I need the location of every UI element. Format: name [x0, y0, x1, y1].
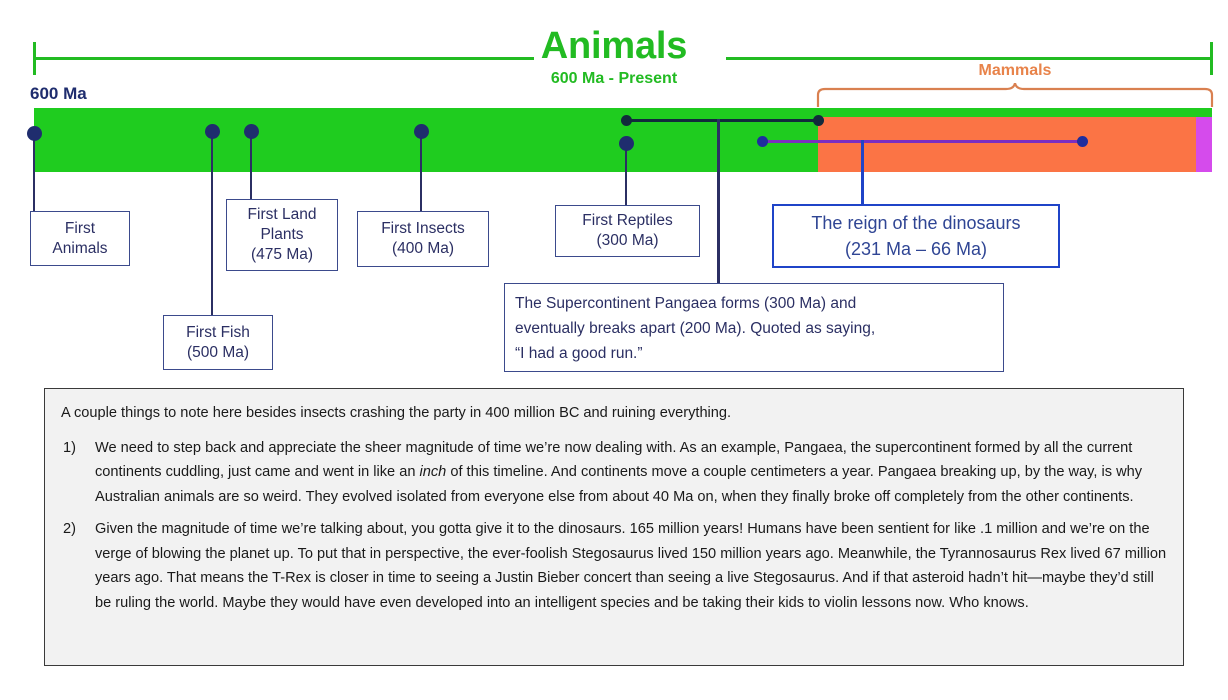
marker-stem-first-insects [420, 131, 422, 211]
pangaea-span-end-dot [813, 115, 824, 126]
dinosaurs-span-start-dot [757, 136, 768, 147]
callout-first-insects-line2: (400 Ma) [392, 239, 454, 259]
timeline-infographic: Animals 600 Ma - Present 600 Ma Mammals … [0, 0, 1228, 700]
callout-pangaea-line3: “I had a good run.” [515, 341, 993, 366]
pangaea-callout-connector [717, 119, 720, 283]
notes-intro: A couple things to note here besides ins… [61, 401, 1167, 426]
callout-first-land-plants[interactable]: First Land Plants (475 Ma) [226, 199, 338, 271]
note-number: 2) [59, 517, 95, 615]
callout-first-reptiles-line2: (300 Ma) [596, 231, 658, 251]
pangaea-span-start-dot [621, 115, 632, 126]
callout-first-reptiles-line1: First Reptiles [582, 211, 672, 231]
page-title: Animals [0, 26, 1228, 66]
callout-first-fish[interactable]: First Fish (500 Ma) [163, 315, 273, 370]
callout-dinosaurs-line2: (231 Ma – 66 Ma) [845, 236, 987, 262]
marker-dot-first-insects [414, 124, 429, 139]
notes-panel: A couple things to note here besides ins… [44, 388, 1184, 666]
callout-first-reptiles[interactable]: First Reptiles (300 Ma) [555, 205, 700, 257]
marker-stem-first-reptiles [625, 143, 627, 205]
marker-dot-first-animals [27, 126, 42, 141]
callout-first-animals-line2: Animals [52, 239, 107, 259]
callout-pangaea[interactable]: The Supercontinent Pangaea forms (300 Ma… [504, 283, 1004, 372]
callout-pangaea-line2: eventually breaks apart (200 Ma). Quoted… [515, 316, 993, 341]
callout-pangaea-line1: The Supercontinent Pangaea forms (300 Ma… [515, 291, 993, 316]
pangaea-span-line [626, 119, 818, 122]
callout-first-land-plants-line2: Plants [260, 225, 303, 245]
note-text: We need to step back and appreciate the … [95, 436, 1167, 510]
callout-first-animals[interactable]: First Animals [30, 211, 130, 266]
marker-dot-first-fish [205, 124, 220, 139]
note-item: 1) We need to step back and appreciate t… [59, 436, 1167, 510]
mammals-brace-icon [816, 83, 1214, 107]
marker-dot-first-reptiles [619, 136, 634, 151]
marker-stem-first-land-plants [250, 131, 252, 201]
dinosaurs-callout-connector [861, 140, 864, 204]
note-item: 2) Given the magnitude of time we’re tal… [59, 517, 1167, 615]
marker-stem-first-fish [211, 131, 213, 326]
callout-dinosaurs-line1: The reign of the dinosaurs [811, 210, 1020, 236]
note-text: Given the magnitude of time we’re talkin… [95, 517, 1167, 615]
dinosaurs-span-end-dot [1077, 136, 1088, 147]
callout-first-animals-line1: First [65, 219, 95, 239]
marker-dot-first-land-plants [244, 124, 259, 139]
axis-start-label: 600 Ma [30, 84, 87, 104]
mammals-label: Mammals [818, 62, 1212, 80]
humans-timeline-bar [1196, 117, 1212, 172]
callout-first-fish-line1: First Fish [186, 323, 250, 343]
note-text-emphasis: inch [420, 464, 447, 480]
callout-first-fish-line2: (500 Ma) [187, 343, 249, 363]
callout-first-land-plants-line1: First Land [248, 205, 317, 225]
callout-first-insects[interactable]: First Insects (400 Ma) [357, 211, 489, 267]
callout-first-insects-line1: First Insects [381, 219, 465, 239]
mammals-timeline-bar [818, 117, 1212, 172]
dinosaurs-span-line [762, 140, 1082, 143]
callout-first-land-plants-line3: (475 Ma) [251, 245, 313, 265]
note-number: 1) [59, 436, 95, 510]
callout-dinosaurs[interactable]: The reign of the dinosaurs (231 Ma – 66 … [772, 204, 1060, 268]
